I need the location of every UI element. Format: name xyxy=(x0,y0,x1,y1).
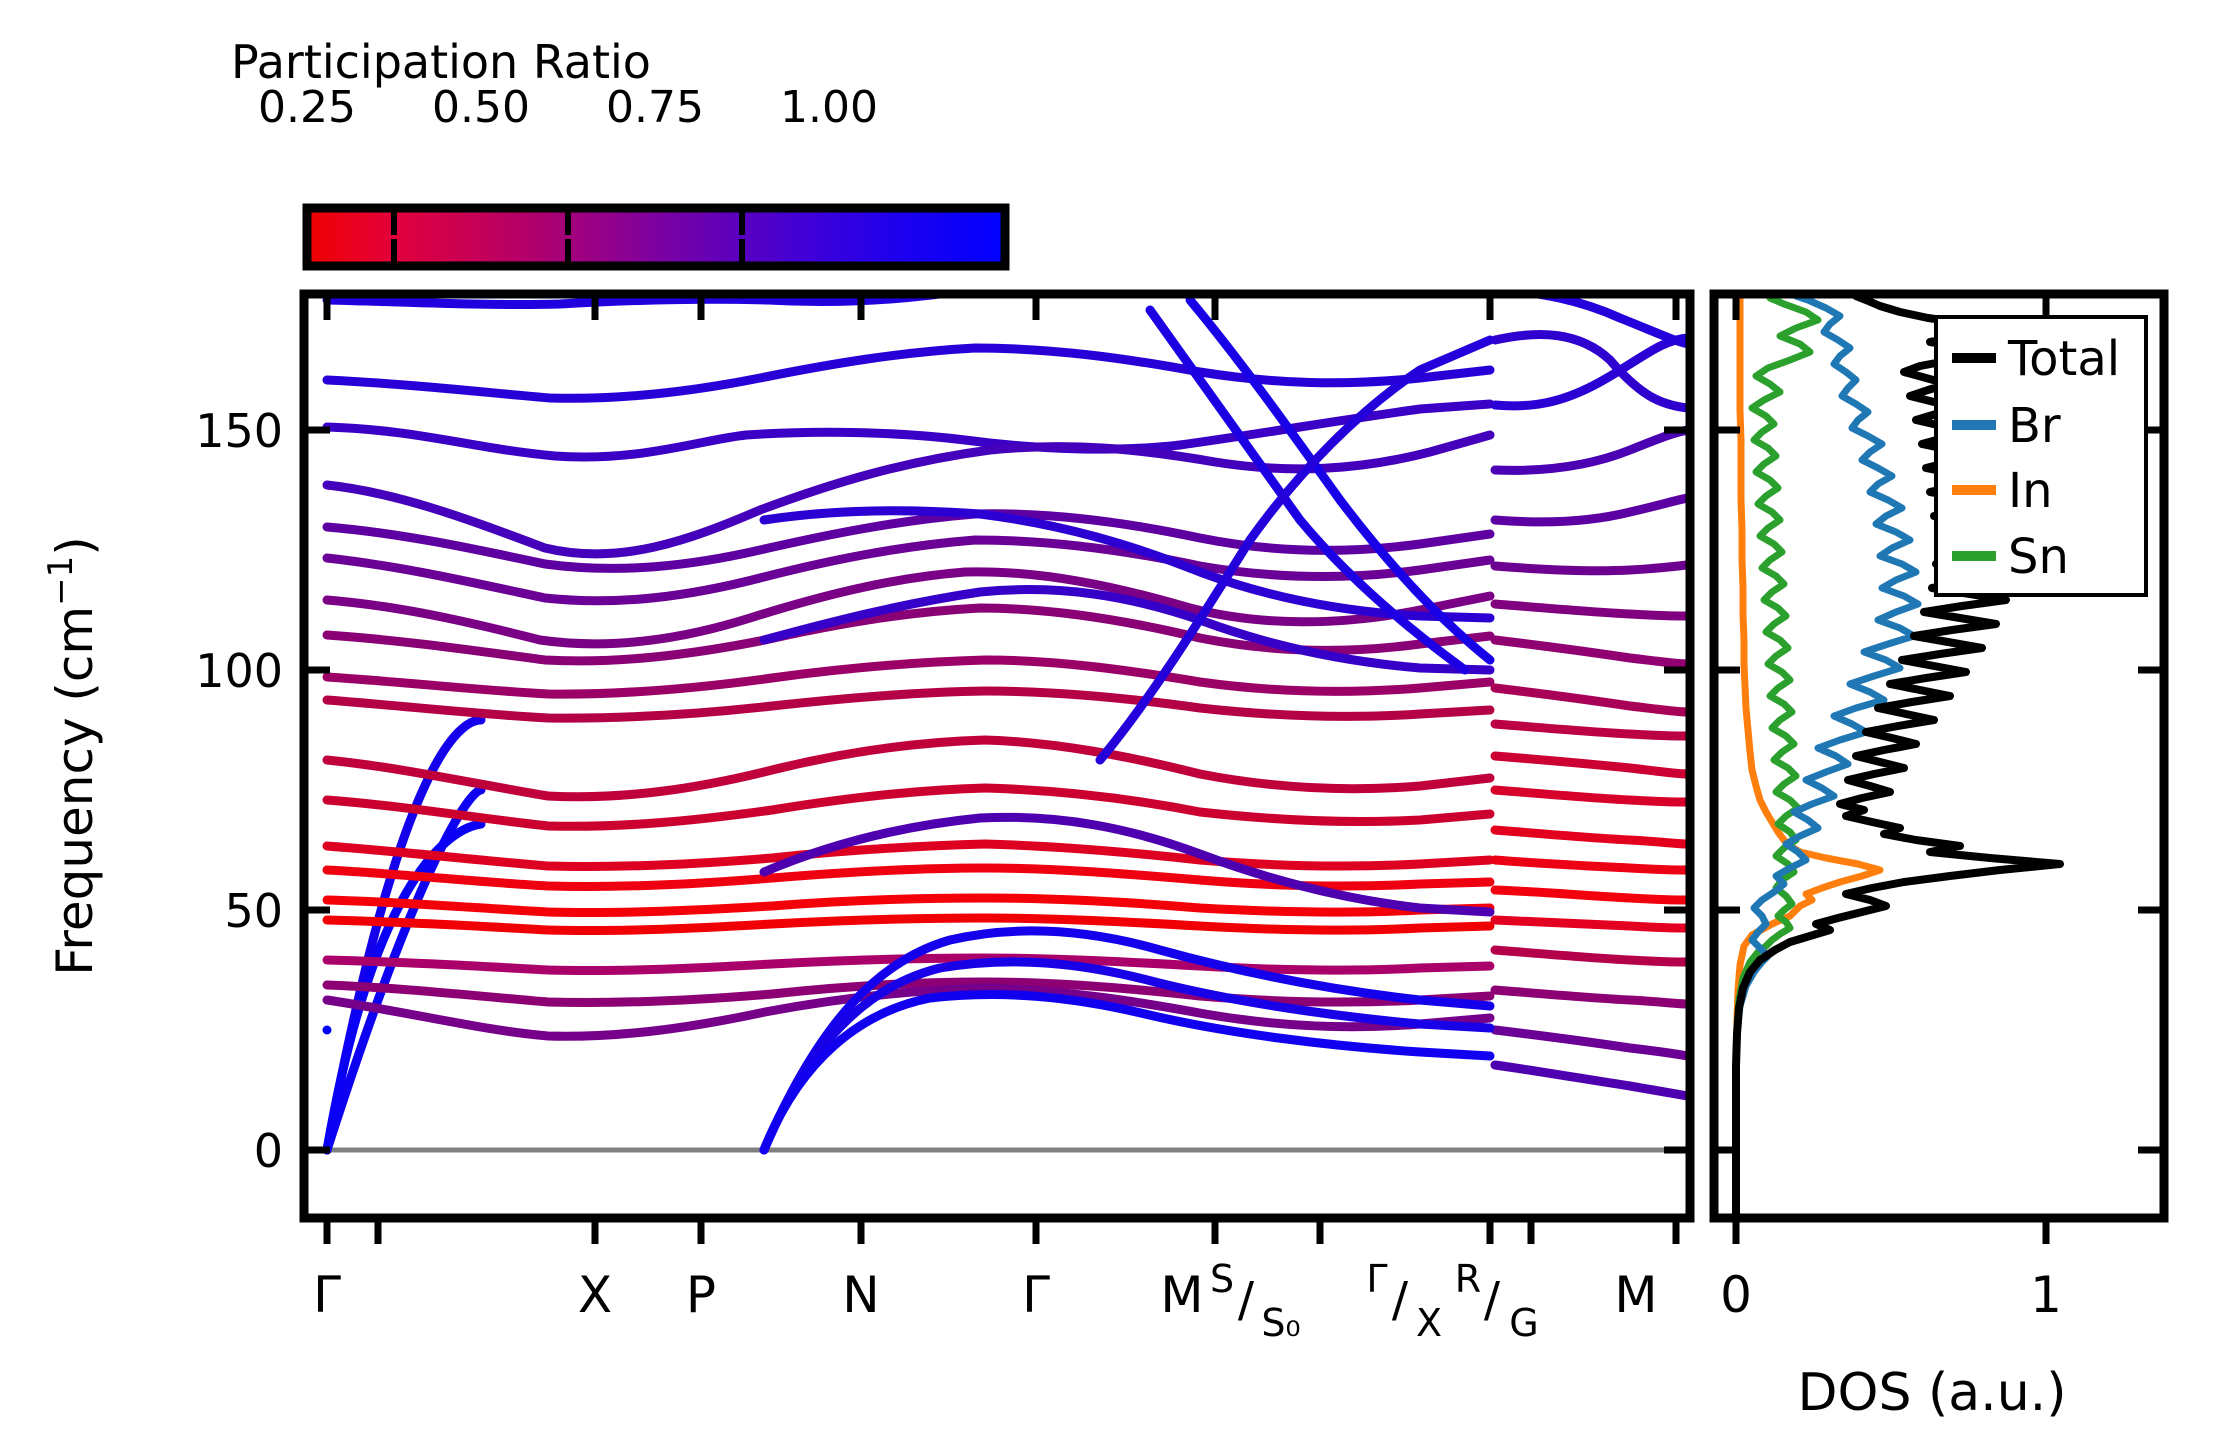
legend-label-in: In xyxy=(2008,463,2053,519)
dos-xtick-label-0: 0 xyxy=(1720,1266,1752,1324)
legend-label-br: Br xyxy=(2008,398,2061,454)
band-xtick-label-p-1: P xyxy=(686,1266,716,1324)
band-xtick-label-n-1: N xyxy=(842,1266,879,1324)
band-xtick-slash-2: / xyxy=(1392,1272,1409,1328)
band-xtick-slash-1: / xyxy=(1238,1272,1255,1328)
legend-label-sn: Sn xyxy=(2008,529,2069,585)
band-xtick-s-sup: S xyxy=(1210,1257,1234,1301)
colorbar-gradient xyxy=(307,208,1005,266)
band-xtick-label-m-2: M xyxy=(1614,1266,1657,1324)
band-ytick-label-0: 0 xyxy=(254,1124,283,1178)
figure-root: Participation Ratio 0.25 0.50 0.75 1.00 xyxy=(0,0,2222,1455)
band-xtick-s0-sub: S₀ xyxy=(1261,1301,1300,1345)
band-xtick-label-x-1: X xyxy=(578,1266,612,1324)
band-xtick-r-sup: R xyxy=(1455,1257,1481,1301)
colorbar-title: Participation Ratio xyxy=(231,35,651,89)
band-ytick-label-150: 150 xyxy=(195,404,283,458)
band-xtick-m-part: M xyxy=(1160,1266,1203,1324)
band-xtick-g-sub: G xyxy=(1509,1301,1538,1345)
dos-xtick-label-1: 1 xyxy=(2030,1266,2062,1324)
band-ytick-label-50: 50 xyxy=(224,884,283,938)
band-xtick-slash-3: / xyxy=(1484,1272,1501,1328)
band-xtick-gamma-sup: Γ xyxy=(1366,1257,1387,1301)
band-xtick-label-gamma-1: Γ xyxy=(313,1266,341,1324)
colorbar-tick-label-0: 0.25 xyxy=(258,82,356,133)
dos-xlabel: DOS (a.u.) xyxy=(1798,1363,2067,1423)
band-ytick-label-100: 100 xyxy=(195,644,283,698)
colorbar-tick-label-2: 0.75 xyxy=(606,82,704,133)
colorbar-tick-label-1: 0.50 xyxy=(432,82,530,133)
colorbar-tick-label-3: 1.00 xyxy=(780,82,878,133)
colorbar[interactable] xyxy=(307,208,1005,266)
dos-legend[interactable]: Total Br In Sn xyxy=(1936,317,2146,595)
legend-label-total: Total xyxy=(2007,331,2120,387)
band-xtick-x-sub: X xyxy=(1416,1301,1442,1345)
band-xtick-label-gamma-2: Γ xyxy=(1022,1266,1050,1324)
